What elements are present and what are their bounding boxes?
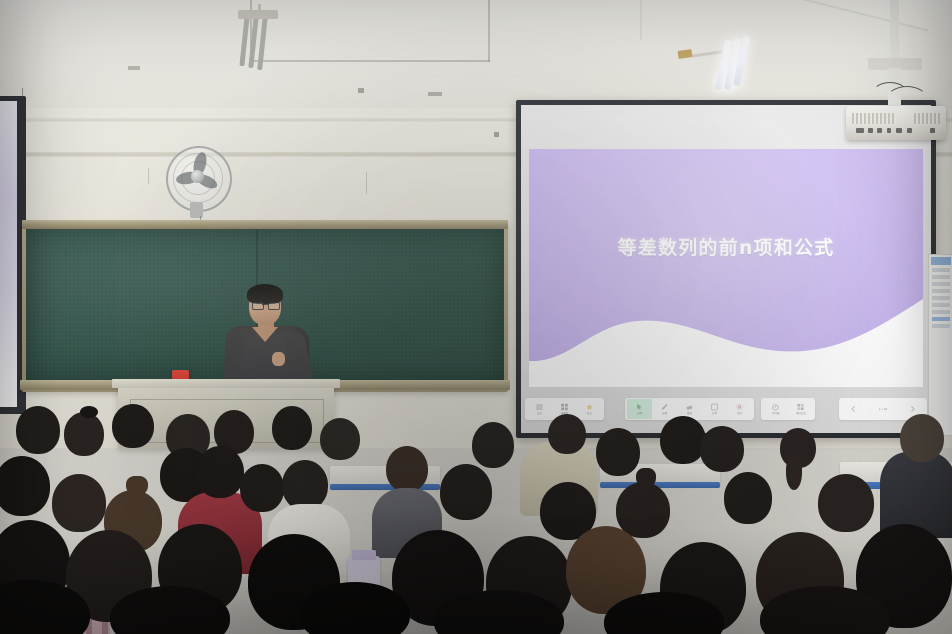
slide-wave-decoration	[529, 291, 923, 387]
student-head	[700, 426, 744, 472]
projector-port	[896, 128, 902, 133]
student-head	[240, 464, 284, 512]
notice-line	[932, 282, 950, 286]
blackboard-top-rail	[22, 220, 508, 229]
student-head	[196, 446, 244, 498]
ceiling-panel-seam	[250, 60, 490, 62]
podium-top-surface	[112, 379, 340, 388]
fluorescent-light-left	[238, 4, 282, 66]
fluorescent-light-right	[660, 26, 760, 104]
student-head	[52, 474, 106, 532]
projector-port	[930, 128, 935, 133]
projector-port	[868, 128, 873, 133]
notice-line	[932, 268, 950, 272]
hair-clip	[80, 406, 98, 418]
student-head	[660, 416, 706, 464]
adult-head	[900, 414, 944, 462]
student-head	[320, 418, 360, 460]
notice-line	[932, 275, 950, 279]
ponytail	[126, 476, 148, 496]
projector-port	[856, 128, 864, 133]
desk-edge	[600, 482, 720, 488]
notice-line	[932, 296, 950, 300]
student-head	[440, 464, 492, 520]
projector-port	[877, 128, 882, 133]
student-head	[472, 422, 514, 468]
student-with-phone	[386, 446, 428, 492]
teacher-hand	[272, 352, 285, 366]
student-head	[616, 482, 670, 538]
projector-port	[887, 128, 891, 133]
notice-line	[932, 303, 950, 307]
secondary-screen	[0, 101, 17, 407]
notice-header	[931, 257, 951, 265]
projector-port	[907, 128, 912, 133]
classroom-photo: 等差数列的前n项和公式 目录 缩略图 标记	[0, 0, 952, 634]
seated-students	[0, 404, 952, 634]
student-head	[0, 456, 50, 516]
ceiling-hook	[494, 132, 499, 137]
student-head	[548, 414, 586, 454]
ceiling-panel-seam	[640, 0, 642, 40]
projector-cable	[886, 86, 928, 114]
notice-line	[932, 324, 950, 328]
ponytail	[786, 456, 802, 490]
projector-mount-pole	[890, 0, 899, 62]
notice-line-highlight	[932, 317, 950, 321]
wall-mounted-fan	[164, 146, 234, 230]
ceiling-panel-seam	[488, 0, 490, 62]
student-head	[596, 428, 640, 476]
glasses-icon	[252, 302, 278, 308]
student-head	[112, 404, 154, 448]
desk-edge	[330, 484, 440, 490]
projection-screen-surface: 等差数列的前n项和公式 目录 缩略图 标记	[521, 105, 931, 433]
projector-vent	[852, 113, 896, 124]
ceiling-hook	[428, 92, 442, 96]
slide-title: 等差数列的前n项和公式	[529, 233, 923, 260]
teacher-hair	[247, 284, 283, 304]
bottle-cap	[352, 550, 376, 560]
student-head	[724, 472, 772, 524]
wall-wire	[366, 172, 367, 194]
notice-line	[932, 310, 950, 314]
projector-vent	[914, 113, 940, 124]
projection-screen-frame: 等差数列的前n项和公式 目录 缩略图 标记	[516, 100, 936, 438]
ceiling-hook	[128, 66, 140, 70]
student-head	[282, 460, 328, 510]
notice-line	[932, 289, 950, 293]
student-head	[272, 406, 312, 450]
student-head	[64, 412, 104, 456]
wall-wire	[148, 168, 149, 184]
presentation-slide: 等差数列的前n项和公式	[529, 149, 923, 387]
ponytail	[636, 468, 656, 488]
student-head	[16, 406, 60, 454]
student-head	[818, 474, 874, 532]
ceiling-hook	[358, 88, 364, 93]
